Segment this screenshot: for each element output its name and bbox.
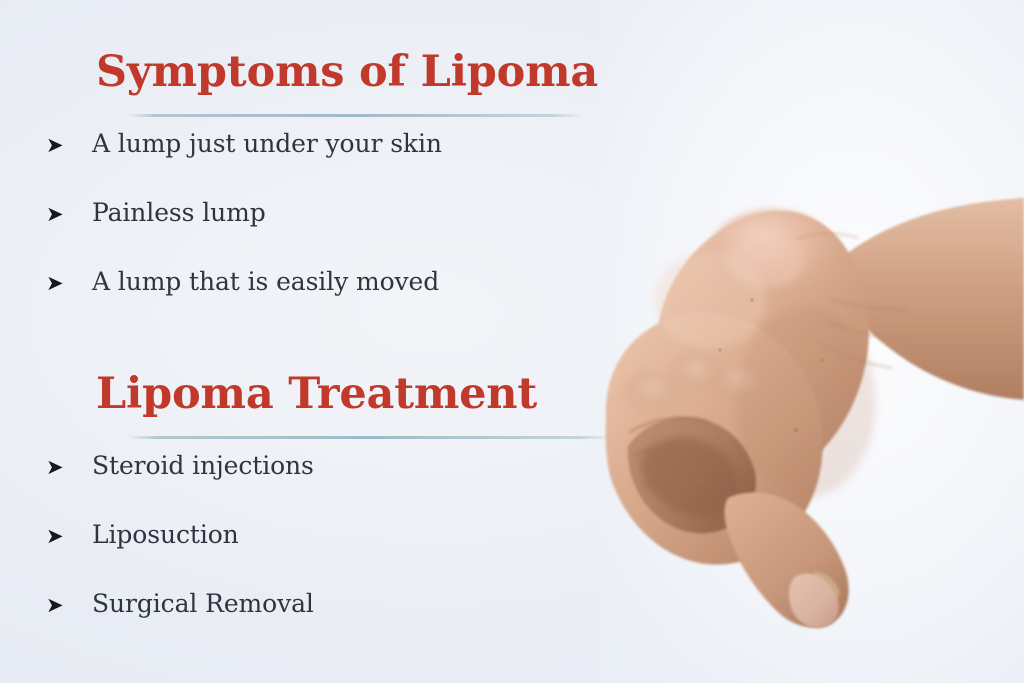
list-item: ➤ Steroid injections [0, 453, 640, 522]
arrow-bullet-icon: ➤ [46, 204, 92, 225]
hand-shading [736, 306, 876, 498]
list-item: ➤ A lump just under your skin [0, 131, 640, 200]
hand-highlight [654, 252, 766, 348]
arrow-bullet-icon: ➤ [46, 135, 92, 156]
arrow-bullet-icon: ➤ [46, 595, 92, 616]
list-item-label: Steroid injections [92, 453, 640, 478]
divider-symptoms [128, 114, 583, 117]
arrow-bullet-icon: ➤ [46, 526, 92, 547]
list-item: ➤ Liposuction [0, 522, 640, 591]
heading-treatment: Lipoma Treatment [0, 366, 640, 422]
list-item: ➤ Painless lump [0, 200, 640, 269]
list-item-label: A lump just under your skin [92, 131, 640, 156]
section-symptoms: Symptoms of Lipoma ➤ A lump just under y… [0, 44, 640, 338]
lipoma-hand-photo [600, 0, 1024, 683]
divider-treatment [128, 436, 613, 439]
list-item: ➤ A lump that is easily moved [0, 269, 640, 338]
list-symptoms: ➤ A lump just under your skin ➤ Painless… [0, 131, 640, 338]
list-item-label: Surgical Removal [92, 591, 640, 616]
list-treatment: ➤ Steroid injections ➤ Liposuction ➤ Sur… [0, 453, 640, 660]
heading-symptoms: Symptoms of Lipoma [0, 44, 640, 100]
list-item-label: Painless lump [92, 200, 640, 225]
infographic-canvas: Symptoms of Lipoma ➤ A lump just under y… [0, 0, 1024, 683]
hand-illustration [600, 0, 1024, 683]
list-item-label: A lump that is easily moved [92, 269, 640, 294]
list-item: ➤ Surgical Removal [0, 591, 640, 660]
list-item-label: Liposuction [92, 522, 640, 547]
arrow-bullet-icon: ➤ [46, 273, 92, 294]
section-treatment: Lipoma Treatment ➤ Steroid injections ➤ … [0, 366, 640, 660]
arrow-bullet-icon: ➤ [46, 457, 92, 478]
